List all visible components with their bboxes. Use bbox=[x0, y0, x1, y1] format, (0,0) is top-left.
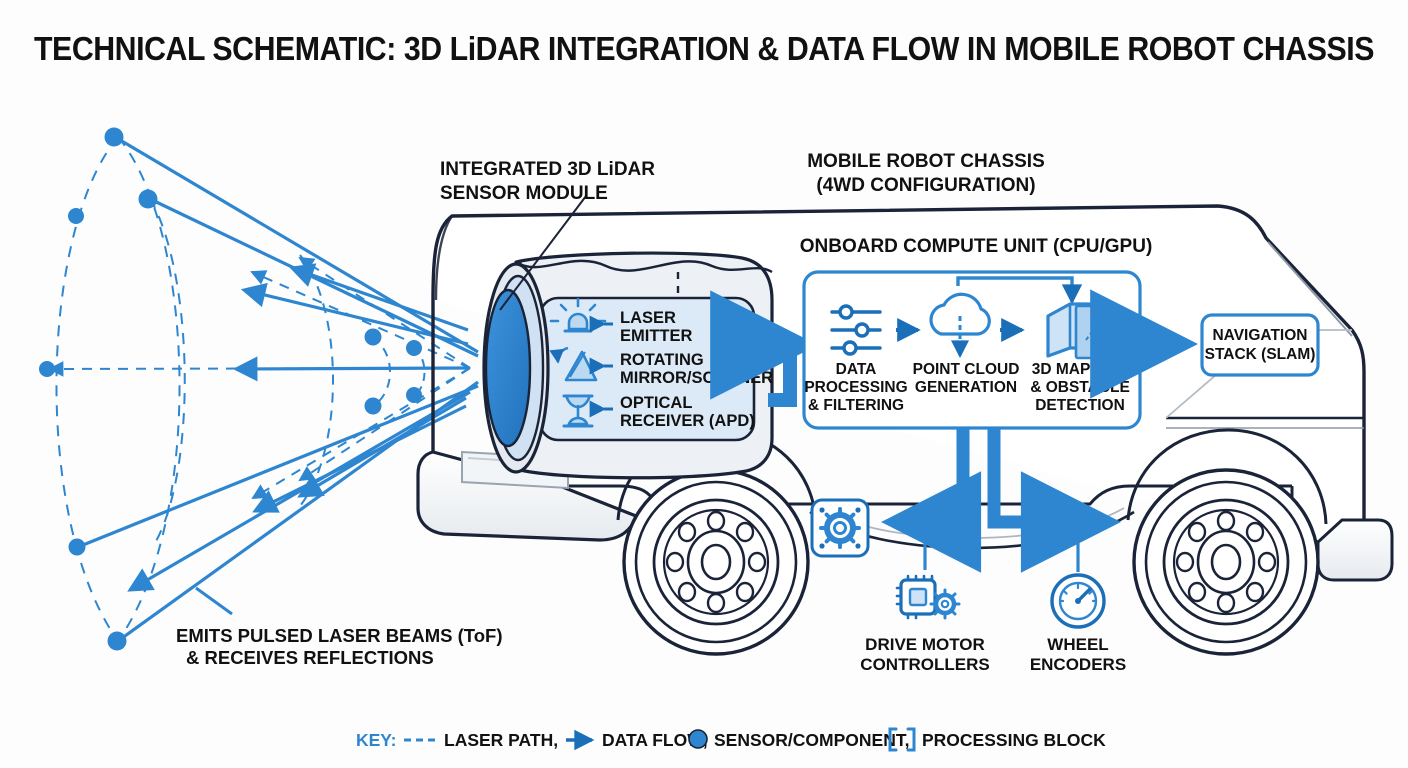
lidar-component-label: EMITTER bbox=[620, 327, 692, 345]
pipeline-stage-label: POINT CLOUD bbox=[913, 361, 1020, 378]
lidar-component-label: MIRROR/SCANNER bbox=[620, 369, 773, 387]
lidar-callout-label: SENSOR MODULE bbox=[440, 183, 608, 204]
pipeline-stage-label: GENERATION bbox=[915, 379, 1017, 396]
actuator-label: CONTROLLERS bbox=[860, 655, 989, 674]
beam-arrow-3 bbox=[236, 368, 470, 369]
return-point bbox=[68, 208, 84, 224]
rear-tire-outer bbox=[1134, 470, 1318, 654]
actuator-label: WHEEL bbox=[1047, 635, 1108, 654]
gauge-icon bbox=[1052, 575, 1104, 627]
pipeline-stage-label: DATA bbox=[836, 361, 877, 378]
navigation-stack-block[interactable]: NAVIGATION STACK (SLAM) bbox=[1202, 315, 1318, 375]
navigation-stack-panel bbox=[1202, 315, 1318, 375]
navigation-stack-label: STACK (SLAM) bbox=[1205, 346, 1316, 363]
page-title: TECHNICAL SCHEMATIC: 3D LiDAR INTEGRATIO… bbox=[34, 30, 1374, 67]
pipeline-stage-label: & FILTERING bbox=[808, 397, 904, 414]
technical-schematic-svg: TECHNICAL SCHEMATIC: 3D LiDAR INTEGRATIO… bbox=[0, 0, 1408, 768]
pipeline-stage-label: PROCESSING bbox=[804, 379, 907, 396]
lidar-component-label: RECEIVER (APD) bbox=[620, 412, 755, 430]
lidar-component-label: ROTATING bbox=[620, 351, 704, 369]
chassis-label: (4WD CONFIGURATION) bbox=[816, 175, 1035, 196]
return-point bbox=[39, 361, 55, 377]
return-point bbox=[406, 340, 422, 356]
legend-item-label: LASER PATH, bbox=[444, 730, 558, 750]
pipeline-stage-label: 3D MAPPING bbox=[1032, 361, 1128, 378]
sliders-icon bbox=[832, 306, 880, 354]
gear-glyph bbox=[821, 509, 859, 547]
return-point bbox=[406, 387, 422, 403]
return-point bbox=[139, 190, 158, 209]
return-point bbox=[365, 398, 382, 415]
lidar-component-label: LASER bbox=[620, 309, 676, 327]
return-point bbox=[108, 632, 127, 651]
navigation-stack-label: NAVIGATION bbox=[1212, 327, 1307, 344]
return-point bbox=[105, 128, 124, 147]
chassis-label: MOBILE ROBOT CHASSIS bbox=[807, 151, 1045, 172]
onboard-compute-unit[interactable]: DATA PROCESSING & FILTERING POINT CLOUD … bbox=[804, 272, 1140, 428]
actuator-label: DRIVE MOTOR bbox=[865, 635, 985, 654]
return-point bbox=[365, 329, 382, 346]
lidar-callout-label: INTEGRATED 3D LiDAR bbox=[440, 159, 655, 180]
gear-module-icon[interactable] bbox=[812, 500, 868, 556]
pipeline-stage-label: & OBSTACLE bbox=[1030, 379, 1130, 396]
compute-unit-title: ONBOARD COMPUTE UNIT (CPU/GPU) bbox=[800, 236, 1153, 257]
laser-note-label: & RECEIVES REFLECTIONS bbox=[186, 647, 434, 668]
legend-item-label: PROCESSING BLOCK bbox=[922, 730, 1106, 750]
schematic-canvas: TECHNICAL SCHEMATIC: 3D LiDAR INTEGRATIO… bbox=[0, 0, 1408, 768]
legend-key-label: KEY: bbox=[356, 730, 397, 750]
filled-circle-icon bbox=[689, 730, 707, 748]
lidar-component-label: OPTICAL bbox=[620, 394, 692, 412]
laser-note-label: EMITS PULSED LASER BEAMS (ToF) bbox=[176, 625, 503, 646]
legend-item-label: SENSOR/COMPONENT, bbox=[714, 730, 909, 750]
return-point bbox=[69, 539, 86, 556]
pipeline-stage-label: DETECTION bbox=[1035, 397, 1125, 414]
lidar-lens-aperture bbox=[486, 290, 530, 446]
front-tire-outer bbox=[624, 470, 808, 654]
actuator-label: ENCODERS bbox=[1030, 655, 1126, 674]
legend: KEY: LASER PATH, DATA FLOW, SENSOR/COMPO… bbox=[356, 729, 1106, 750]
